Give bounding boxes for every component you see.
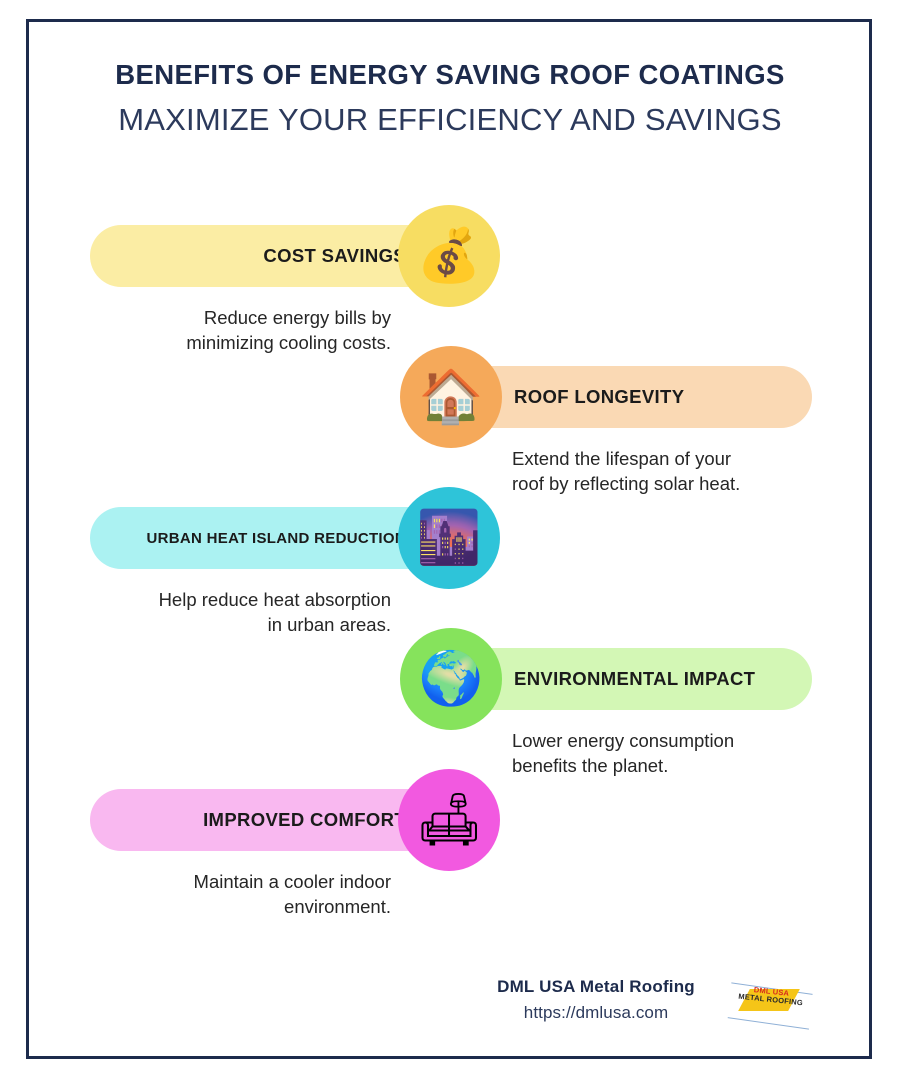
earth-globe-icon: 🌍 bbox=[400, 628, 502, 730]
benefit-label: IMPROVED COMFORT bbox=[203, 809, 406, 831]
benefits-list: COST SAVINGS 💰 Reduce energy bills by mi… bbox=[0, 205, 900, 910]
page-title: BENEFITS OF ENERGY SAVING ROOF COATINGS bbox=[40, 58, 860, 91]
benefit-description: Maintain a cooler indoor environment. bbox=[100, 869, 391, 919]
benefit-row-cost-savings: COST SAVINGS 💰 Reduce energy bills by mi… bbox=[0, 205, 900, 346]
house-glyph: 🏠 bbox=[419, 371, 484, 423]
benefit-label: ROOF LONGEVITY bbox=[514, 386, 684, 408]
money-bag-glyph: 💰 bbox=[417, 230, 482, 282]
house-icon: 🏠 bbox=[400, 346, 502, 448]
brand-name: DML USA Metal Roofing bbox=[470, 975, 722, 1000]
benefit-label: URBAN HEAT ISLAND REDUCTION bbox=[147, 530, 406, 547]
money-bag-icon: 💰 bbox=[398, 205, 500, 307]
page-subtitle: MAXIMIZE YOUR EFFICIENCY AND SAVINGS bbox=[40, 97, 860, 144]
benefit-row-roof-longevity: ROOF LONGEVITY 🏠 Extend the lifespan of … bbox=[0, 346, 900, 487]
infographic-page: BENEFITS OF ENERGY SAVING ROOF COATINGS … bbox=[0, 0, 900, 1080]
title-block: BENEFITS OF ENERGY SAVING ROOF COATINGS … bbox=[40, 58, 860, 144]
benefit-row-environmental-impact: ENVIRONMENTAL IMPACT 🌍 Lower energy cons… bbox=[0, 628, 900, 769]
benefit-row-improved-comfort: IMPROVED COMFORT 🛋 Maintain a cooler ind… bbox=[0, 769, 900, 910]
benefit-pill: ENVIRONMENTAL IMPACT bbox=[460, 648, 812, 710]
benefit-label: ENVIRONMENTAL IMPACT bbox=[514, 668, 755, 690]
couch-and-lamp-icon: 🛋 bbox=[398, 769, 500, 871]
benefit-label: COST SAVINGS bbox=[263, 245, 406, 267]
couch-glyph: 🛋 bbox=[416, 794, 482, 846]
benefit-row-urban-heat-island-reduction: URBAN HEAT ISLAND REDUCTION 🌆 Help reduc… bbox=[0, 487, 900, 628]
cityscape-glyph: 🌆 bbox=[417, 512, 482, 564]
brand-url[interactable]: https://dmlusa.com bbox=[470, 1000, 722, 1026]
benefit-pill: ROOF LONGEVITY bbox=[460, 366, 812, 428]
footer-text-block: DML USA Metal Roofing https://dmlusa.com bbox=[470, 975, 722, 1026]
earth-globe-glyph: 🌍 bbox=[419, 653, 484, 705]
footer: DML USA Metal Roofing https://dmlusa.com… bbox=[470, 975, 830, 1026]
cityscape-at-dusk-icon: 🌆 bbox=[398, 487, 500, 589]
dml-usa-metal-roofing-logo: DML USA METAL ROOFING bbox=[728, 979, 812, 1025]
